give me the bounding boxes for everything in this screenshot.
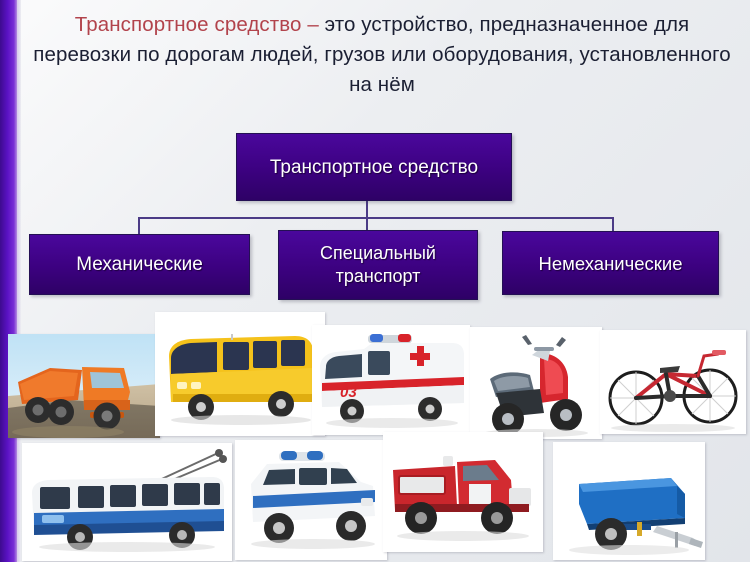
photo-bus — [155, 312, 325, 436]
trailer-icon — [553, 442, 705, 560]
dump-truck-icon — [8, 334, 160, 438]
bicycle-icon — [600, 330, 746, 434]
connector-drop-mechanical — [138, 217, 140, 235]
fire-truck-icon — [383, 432, 543, 552]
diagram-node-mechanical[interactable]: Механические — [29, 234, 250, 295]
police-car-icon — [235, 440, 387, 560]
connector-horizontal-bus — [138, 217, 614, 219]
photo-bicycle — [600, 330, 746, 434]
scooter-icon — [470, 327, 602, 439]
connector-drop-special — [366, 217, 368, 231]
diagram-node-root[interactable]: Транспортное средство — [236, 133, 512, 201]
connector-drop-nonmechanical — [612, 217, 614, 232]
photo-scooter — [470, 327, 602, 439]
photo-trailer — [553, 442, 705, 560]
photo-trolleybus — [22, 443, 232, 561]
photo-police-car — [235, 440, 387, 560]
hierarchy-diagram: Транспортное средство Механические Специ… — [0, 0, 750, 310]
ambulance-icon: 03 — [312, 325, 470, 435]
diagram-node-special-transport[interactable]: Специальный транспорт — [278, 230, 478, 300]
connector-root-stem — [366, 201, 368, 218]
diagram-node-nonmechanical[interactable]: Немеханические — [502, 231, 719, 295]
trolleybus-icon — [22, 443, 232, 561]
ambulance-number: 03 — [340, 384, 357, 401]
bus-icon — [155, 312, 325, 436]
photo-ambulance: 03 — [312, 325, 470, 435]
photo-dump-truck — [8, 334, 160, 438]
slide-canvas: Транспортное средство – это устройство, … — [0, 0, 750, 562]
photo-fire-truck — [383, 432, 543, 552]
